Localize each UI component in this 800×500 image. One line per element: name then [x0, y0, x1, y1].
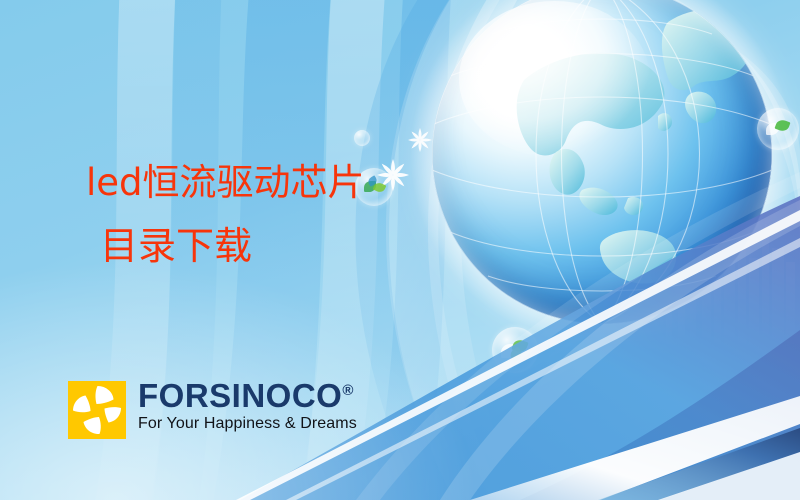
bubble-icon — [492, 327, 538, 373]
sparkle-burst-small-icon — [405, 125, 435, 155]
headline-line-2: 目录下载 — [100, 227, 365, 265]
bubble-icon — [757, 108, 799, 150]
city-skyline-icon — [666, 214, 795, 344]
globe-grid-icon — [432, 0, 772, 324]
four-petal-pinwheel-icon — [68, 381, 126, 439]
continents-icon — [517, 0, 766, 284]
sparkle-burst-icon — [373, 155, 413, 195]
company-logo: FORSINOCO® For Your Happiness & Dreams — [68, 381, 357, 439]
promo-banner: led恒流驱动芯片 目录下载 FORSINOCO® — [0, 0, 800, 500]
logo-tagline: For Your Happiness & Dreams — [138, 415, 357, 433]
logo-company-name: FORSINOCO® — [138, 379, 357, 414]
bubble-small-icon — [354, 130, 370, 146]
headline-line-1: led恒流驱动芯片 — [86, 164, 365, 201]
registered-trademark-icon: ® — [342, 382, 354, 399]
logo-company-name-text: FORSINOCO — [138, 377, 342, 414]
globe-icon — [432, 0, 772, 324]
headline-text: led恒流驱动芯片 目录下载 — [86, 164, 365, 265]
